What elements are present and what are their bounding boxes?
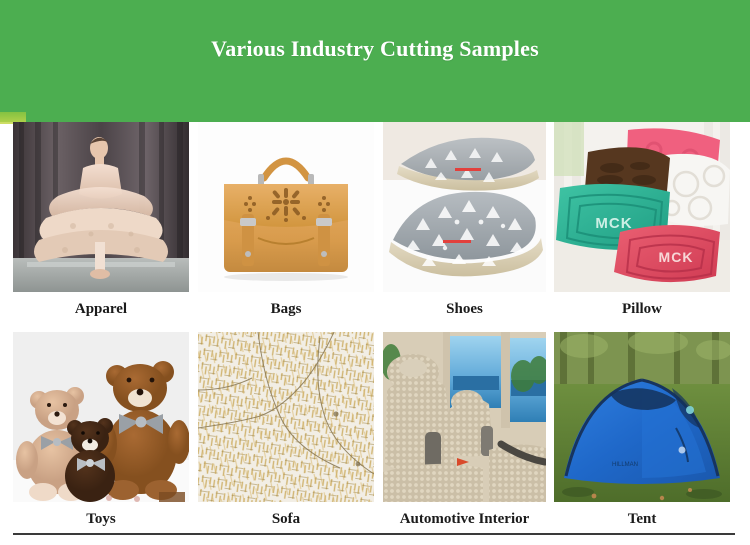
toys-image[interactable] bbox=[13, 332, 189, 502]
sofa-image[interactable] bbox=[198, 332, 374, 502]
pillow-monogram-rose: MCK bbox=[659, 249, 694, 265]
pillow-label: Pillow bbox=[554, 292, 730, 326]
gallery-item-apparel[interactable]: Apparel bbox=[13, 122, 189, 326]
gallery-item-shoes[interactable]: Shoes bbox=[383, 122, 546, 326]
tent-brand-mark: HILLMAN bbox=[612, 462, 638, 468]
page-root: Various Industry Cutting Samples bbox=[0, 0, 750, 545]
pillow-image[interactable]: MCK MCK bbox=[554, 122, 730, 292]
gallery-item-tent[interactable]: HILLMAN Tent bbox=[554, 332, 730, 536]
shoes-label: Shoes bbox=[383, 292, 546, 326]
gallery-item-pillow[interactable]: MCK MCK Pillow bbox=[554, 122, 730, 326]
automotive-interior-image[interactable] bbox=[383, 332, 546, 502]
header-banner: Various Industry Cutting Samples bbox=[0, 0, 750, 122]
page-title: Various Industry Cutting Samples bbox=[211, 36, 539, 62]
gallery-row-2: Toys bbox=[0, 332, 750, 536]
toys-label: Toys bbox=[13, 502, 189, 536]
pillow-monogram-teal: MCK bbox=[595, 215, 632, 232]
shoes-image[interactable] bbox=[383, 122, 546, 292]
sofa-label: Sofa bbox=[198, 502, 374, 536]
bags-label: Bags bbox=[198, 292, 374, 326]
apparel-image[interactable] bbox=[13, 122, 189, 292]
gallery-item-sofa[interactable]: Sofa bbox=[198, 332, 374, 536]
apparel-label: Apparel bbox=[13, 292, 189, 326]
gallery-item-toys[interactable]: Toys bbox=[13, 332, 189, 536]
gallery-item-automotive-interior[interactable]: Automotive Interior bbox=[383, 332, 546, 536]
tent-image[interactable]: HILLMAN bbox=[554, 332, 730, 502]
gallery-item-bags[interactable]: Bags bbox=[198, 122, 374, 326]
bottom-divider bbox=[13, 533, 735, 535]
bags-image[interactable] bbox=[198, 122, 374, 292]
tent-label: Tent bbox=[554, 502, 730, 536]
samples-grid: Apparel bbox=[0, 122, 750, 536]
gallery-row-1: Apparel bbox=[0, 122, 750, 326]
automotive-interior-label: Automotive Interior bbox=[383, 502, 546, 536]
